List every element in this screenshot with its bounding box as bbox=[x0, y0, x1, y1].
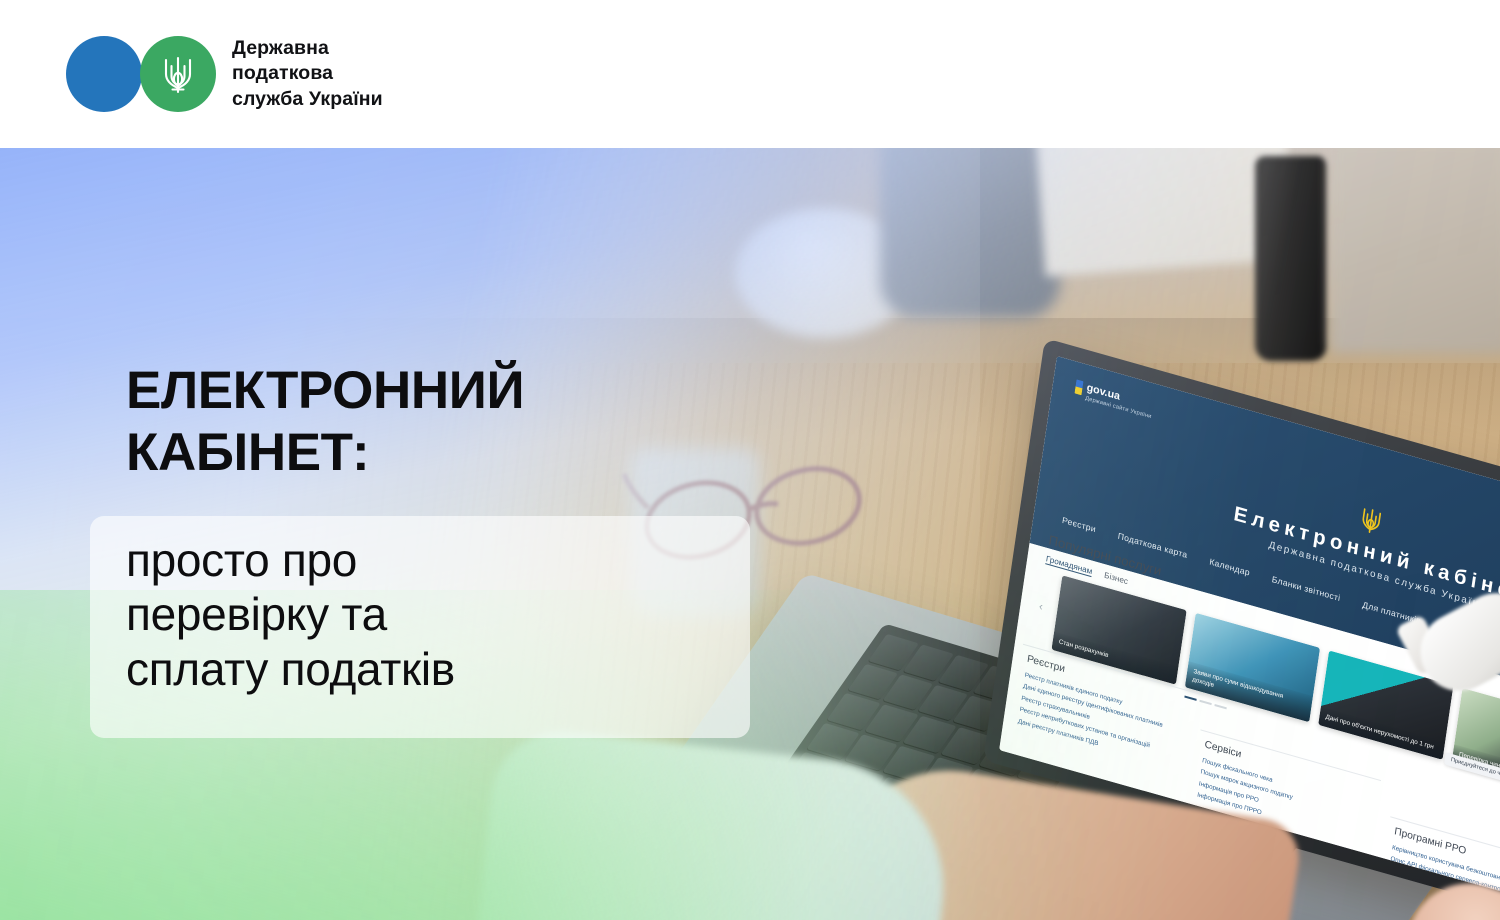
organization-logo: Державна податкова служба України bbox=[66, 34, 383, 114]
green-circle-icon bbox=[140, 36, 216, 112]
brand-header: Державна податкова служба України bbox=[0, 0, 1500, 148]
poster-root: Державна податкова служба України bbox=[0, 0, 1500, 920]
organization-name: Державна податкова служба України bbox=[232, 36, 383, 112]
blue-circle-icon bbox=[66, 36, 142, 112]
ukraine-trident-icon bbox=[161, 52, 195, 96]
gradient-overlay-bottom bbox=[0, 590, 1100, 920]
hero-photo: gov.ua Державні сайти України bbox=[0, 148, 1500, 920]
logo-circles bbox=[66, 34, 216, 114]
